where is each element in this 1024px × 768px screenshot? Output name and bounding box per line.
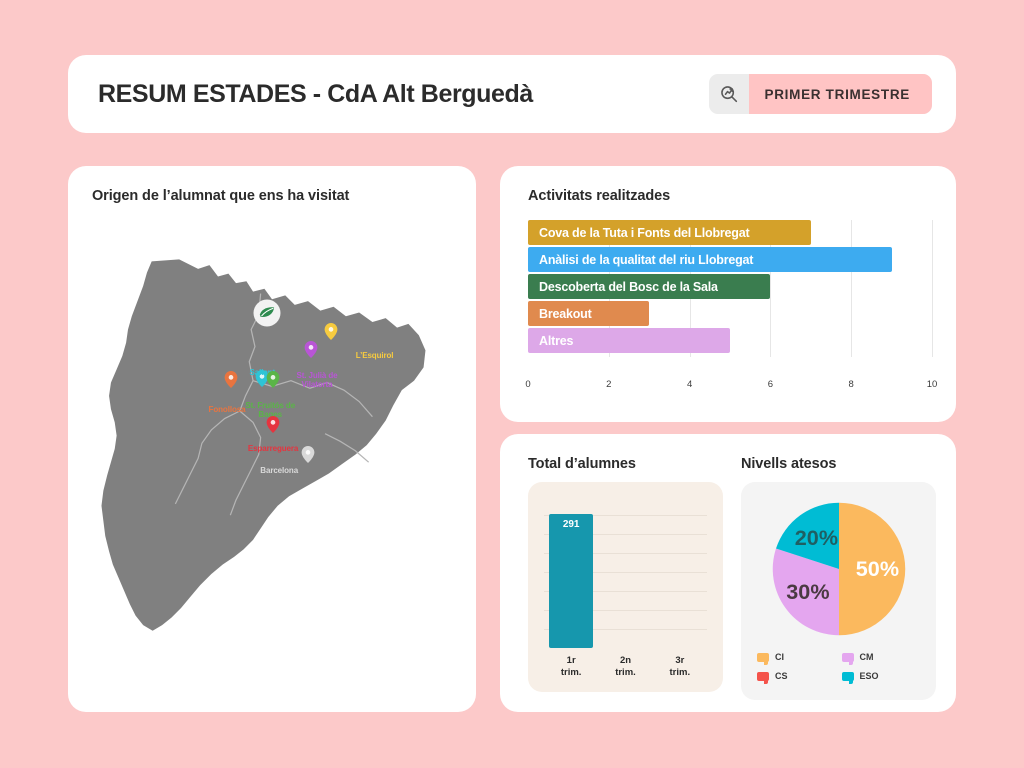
legend-item-ci[interactable]: CI [757,652,842,662]
bottom-panel: Total d’alumnes 291 1r trim.2n trim.3r t… [500,434,956,712]
activities-panel: Activitats realitzades Cova de la Tuta i… [500,166,956,422]
legend-swatch-icon [757,672,769,681]
x-tick-2: 2 [606,379,611,390]
pie-chart-wrap: 50%30%20% [751,494,926,644]
legend-label: CS [775,671,788,681]
map-panel-title: Origen de l’alumnat que ens ha visitat [92,188,452,204]
activity-bar-row[interactable]: Breakout [528,301,932,326]
pie-slice-percent: 20% [794,525,837,550]
nivells-atesos-title: Nivells atesos [741,456,936,472]
activity-bar-label: Altres [539,334,573,348]
nivells-pie-svg: 50%30%20% [767,497,911,641]
x-tick-4: 4 [687,379,692,390]
activities-bars: Cova de la Tuta i Fonts del LlobregatAnà… [528,220,932,353]
pie-slice-percent: 50% [855,556,898,581]
activity-bar: Breakout [528,301,649,326]
map-label-4: St. Fruitós de Bages [245,402,295,420]
pie-legend: CICMCSESO [751,652,926,690]
legend-label: ESO [860,671,879,681]
trimester-badge-label: PRIMER TRIMESTRE [749,74,932,114]
map-label-0: L’Esquirol [356,352,394,361]
catalonia-map[interactable]: L’EsquirolSt. Julià de VilatortaSallentF… [92,212,452,682]
trimester-bar-column[interactable] [653,496,707,648]
nivells-atesos-section: Nivells atesos 50%30%20% CICMCSESO [741,456,936,692]
total-alumnes-title: Total d’alumnes [528,456,723,472]
activity-bar-row[interactable]: Descoberta del Bosc de la Sala [528,274,932,299]
legend-label: CI [775,652,784,662]
trimester-bar: 291 [549,514,593,648]
total-alumnes-x-axis: 1r trim.2n trim.3r trim. [544,655,707,679]
map-label-5: Esparreguera [248,445,298,454]
legend-swatch-icon [842,653,854,662]
x-tick-0: 0 [525,379,530,390]
activity-bar-label: Breakout [539,307,592,321]
x-tick-10: 10 [927,379,938,390]
activity-bar: Descoberta del Bosc de la Sala [528,274,770,299]
map-label-3: Fonollosa [209,406,246,415]
activity-bar: Anàlisi de la qualitat del riu Llobregat [528,247,892,272]
header-card: RESUM ESTADES - CdA Alt Berguedà PRIMER … [68,55,956,133]
trimester-bar-value: 291 [563,519,580,648]
total-alumnes-section: Total d’alumnes 291 1r trim.2n trim.3r t… [528,456,723,692]
pie-slice-percent: 30% [786,579,829,604]
legend-item-cm[interactable]: CM [842,652,927,662]
page-title: RESUM ESTADES - CdA Alt Berguedà [98,80,533,109]
activity-bar: Altres [528,328,730,353]
trimester-badge[interactable]: PRIMER TRIMESTRE [709,74,932,114]
total-alumnes-bars: 291 [544,496,707,648]
legend-swatch-icon [842,672,854,681]
activities-bar-chart: Cova de la Tuta i Fonts del LlobregatAnà… [528,220,932,375]
map-label-6: Barcelona [260,467,298,476]
x-tick-6: 6 [768,379,773,390]
legend-label: CM [860,652,874,662]
dashboard-root: RESUM ESTADES - CdA Alt Berguedà PRIMER … [0,0,1024,768]
trimester-bar-column[interactable] [598,496,652,648]
map-label-1: St. Julià de Vilatorta [296,372,337,390]
legend-swatch-icon [757,653,769,662]
activity-bar-label: Cova de la Tuta i Fonts del Llobregat [539,226,749,240]
activity-bar-row[interactable]: Anàlisi de la qualitat del riu Llobregat [528,247,932,272]
nivells-atesos-chart: 50%30%20% CICMCSESO [741,482,936,700]
trimester-tick-label: 2n trim. [598,655,652,679]
legend-item-eso[interactable]: ESO [842,671,927,681]
activity-bar-row[interactable]: Cova de la Tuta i Fonts del Llobregat [528,220,932,245]
trimester-bar-column[interactable]: 291 [544,496,598,648]
activity-bar: Cova de la Tuta i Fonts del Llobregat [528,220,811,245]
x-tick-8: 8 [849,379,854,390]
activities-panel-title: Activitats realitzades [528,188,932,204]
gridline-10 [932,220,933,357]
legend-item-cs[interactable]: CS [757,671,842,681]
activities-x-axis: 0246810 [528,377,932,395]
trimester-tick-label: 1r trim. [544,655,598,679]
trimester-tick-label: 3r trim. [653,655,707,679]
map-panel: Origen de l’alumnat que ens ha visitat [68,166,476,712]
search-analytics-icon [709,74,749,114]
total-alumnes-chart: 291 1r trim.2n trim.3r trim. [528,482,723,692]
map-label-2: Sallent [250,369,276,378]
activity-bar-label: Anàlisi de la qualitat del riu Llobregat [539,253,753,267]
activity-bar-label: Descoberta del Bosc de la Sala [539,280,718,294]
activity-bar-row[interactable]: Altres [528,328,932,353]
cda-alt-bergueda-logo-badge[interactable] [253,300,280,327]
leaf-logo-icon [257,304,276,323]
